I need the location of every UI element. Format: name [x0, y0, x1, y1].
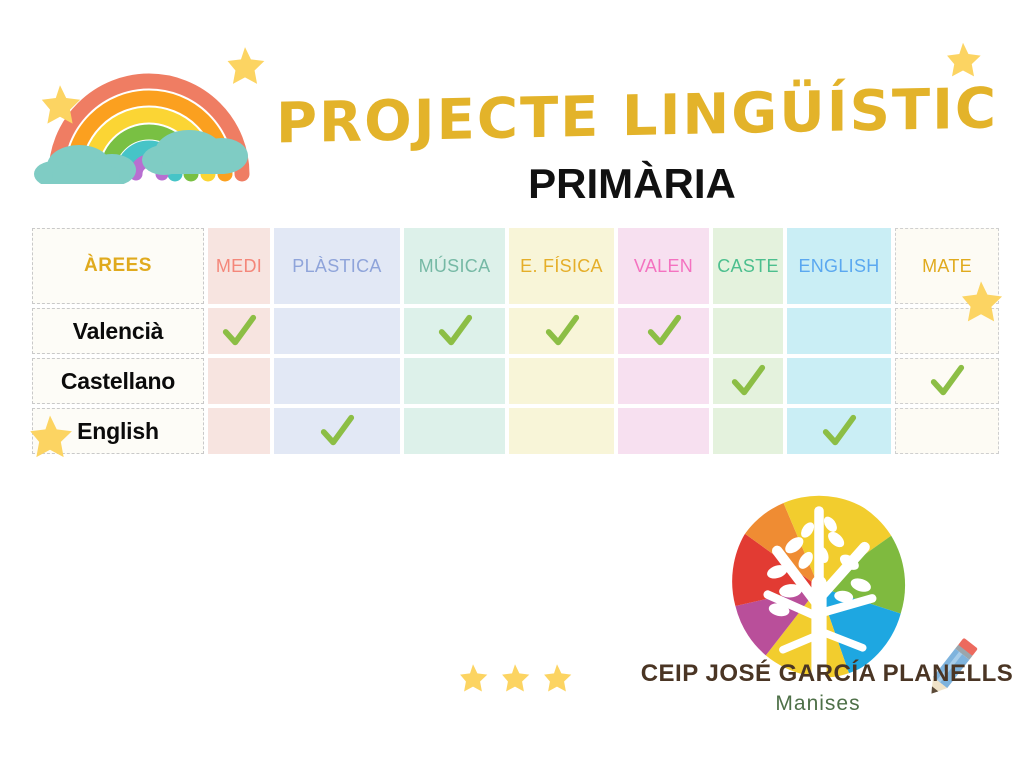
table-cell[interactable] [618, 308, 709, 354]
table-cell[interactable] [713, 408, 783, 454]
table-cell[interactable] [404, 358, 505, 404]
page-title: PROJECTE LINGÜÍSTIC [276, 77, 988, 157]
table-header-row: ÀREES MEDIPLÀSTICAMÚSICAE. FÍSICAVALENCA… [32, 228, 992, 304]
table-cell[interactable] [787, 308, 891, 354]
table-row: Castellano [32, 358, 992, 404]
table-cell[interactable] [404, 408, 505, 454]
tree-circle-logo [724, 492, 914, 682]
table-cell[interactable] [895, 408, 999, 454]
check-icon [436, 312, 474, 350]
corner-label: ÀREES [84, 255, 152, 277]
table-cell[interactable] [509, 358, 614, 404]
star-icon [540, 662, 574, 696]
star-icon [36, 82, 84, 130]
row-label-text: English [77, 418, 159, 445]
table-cell[interactable] [713, 308, 783, 354]
table-cell[interactable] [895, 358, 999, 404]
table-cell[interactable] [787, 358, 891, 404]
row-label-text: Valencià [73, 318, 163, 345]
row-label-valencià: Valencià [32, 308, 204, 354]
table-header-m-sica: MÚSICA [404, 228, 505, 304]
table-cell[interactable] [208, 308, 270, 354]
table-row: Valencià [32, 308, 992, 354]
table-cell[interactable] [404, 308, 505, 354]
table-cell[interactable] [895, 308, 999, 354]
table-header-english: ENGLISH [787, 228, 891, 304]
check-icon [928, 362, 966, 400]
table-cell[interactable] [208, 358, 270, 404]
logo-town-name: Manises [612, 692, 1024, 716]
cloud-icon [142, 130, 248, 175]
table-cell[interactable] [509, 408, 614, 454]
star-icon [456, 662, 490, 696]
rainbow-icon [24, 24, 274, 184]
row-label-castellano: Castellano [32, 358, 204, 404]
table-cell[interactable] [618, 358, 709, 404]
table-header-mate: MATE [895, 228, 999, 304]
column-header-label: MÚSICA [419, 256, 491, 277]
table-cell[interactable] [274, 308, 400, 354]
check-icon [220, 312, 258, 350]
logo-school-name: CEIP JOSÉ GARCÍA PLANELLS [612, 660, 1024, 688]
check-icon [645, 312, 683, 350]
column-header-label: MATE [922, 256, 972, 277]
table-cell[interactable] [618, 408, 709, 454]
table-cell[interactable] [713, 358, 783, 404]
row-label-text: Castellano [61, 368, 175, 395]
table-cell[interactable] [274, 358, 400, 404]
column-header-label: PLÀSTICA [292, 256, 381, 277]
check-icon [318, 412, 356, 450]
table-cell[interactable] [208, 408, 270, 454]
star-icon [942, 40, 984, 82]
page-subtitle: PRIMÀRIA [276, 160, 988, 208]
table-row: English [32, 408, 992, 454]
cloud-icon [34, 145, 136, 184]
table-cell[interactable] [787, 408, 891, 454]
star-icon [222, 44, 268, 90]
table-header-e-f-sica: E. FÍSICA [509, 228, 614, 304]
check-icon [820, 412, 858, 450]
check-icon [729, 362, 767, 400]
column-header-label: MEDI [216, 256, 262, 277]
table-cell[interactable] [509, 308, 614, 354]
language-areas-table: ÀREES MEDIPLÀSTICAMÚSICAE. FÍSICAVALENCA… [32, 228, 992, 458]
table-header-medi: MEDI [208, 228, 270, 304]
check-icon [543, 312, 581, 350]
column-header-label: VALEN [634, 256, 693, 277]
star-icon [498, 662, 532, 696]
school-logo: CEIP JOSÉ GARCÍA PLANELLS Manises [612, 492, 1024, 742]
table-header-pl-stica: PLÀSTICA [274, 228, 400, 304]
table-cell[interactable] [274, 408, 400, 454]
table-corner-cell: ÀREES [32, 228, 204, 304]
column-header-label: ENGLISH [798, 256, 879, 277]
poster-canvas: PROJECTE LINGÜÍSTIC PRIMÀRIA ÀREES MEDIP… [0, 0, 1024, 768]
column-header-label: E. FÍSICA [520, 256, 603, 277]
row-label-english: English [32, 408, 204, 454]
table-header-valen: VALEN [618, 228, 709, 304]
column-header-label: CASTE [717, 256, 779, 277]
table-header-caste: CASTE [713, 228, 783, 304]
